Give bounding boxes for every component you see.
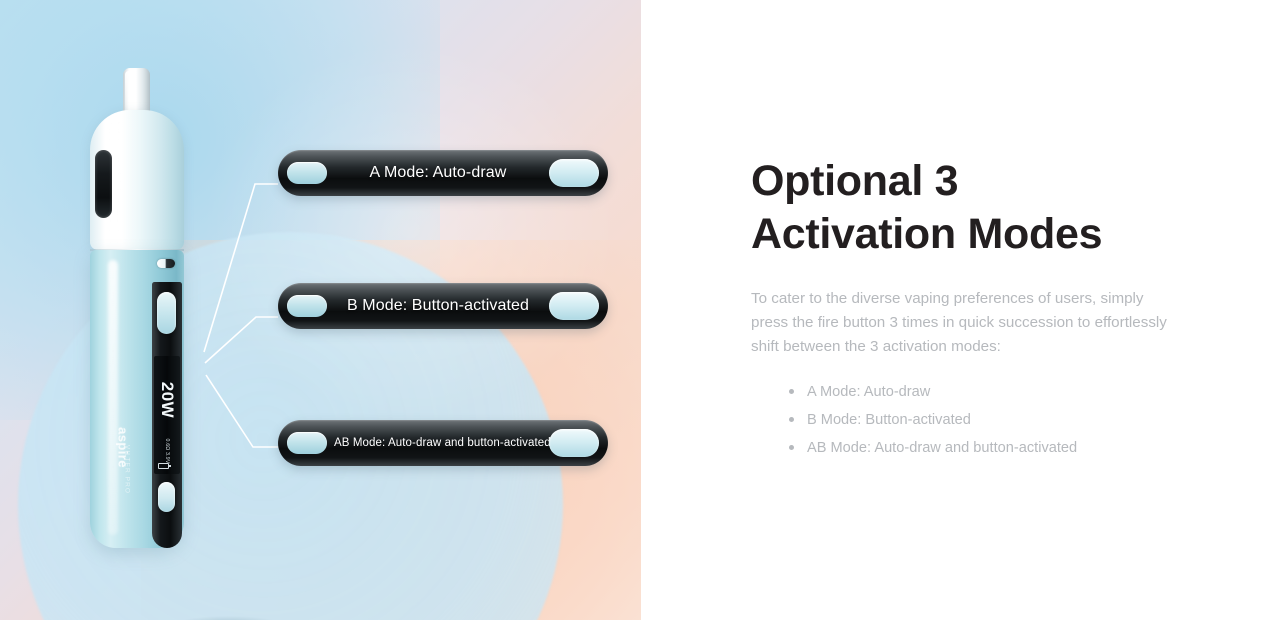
device-indicator-light (157, 259, 175, 268)
pill-right-cap-icon (549, 159, 599, 187)
battery-icon (158, 463, 169, 469)
pill-right-cap-icon (549, 429, 599, 457)
mode-label: B Mode: Button-activated (807, 412, 971, 428)
pill-left-cap-icon (287, 295, 327, 317)
background-white-haze (200, 40, 620, 420)
device-liquid-window (95, 150, 112, 218)
vape-device: 20W 0.6Ω 3.9V aspire VILTER PRO (84, 68, 204, 558)
product-visual-panel: 20W 0.6Ω 3.9V aspire VILTER PRO A Mode: … (0, 0, 641, 620)
screen-wattage-value: 20W (157, 382, 177, 418)
activation-modes-list: A Mode: Auto-draw B Mode: Button-activat… (751, 381, 1190, 465)
device-drop-shadow (176, 616, 280, 620)
device-bottom-button[interactable] (158, 482, 175, 512)
bullet-icon (789, 389, 794, 394)
pill-right-cap-icon (549, 292, 599, 320)
list-item: AB Mode: Auto-draw and button-activated (789, 437, 1190, 460)
screen-sub-readout: 0.6Ω 3.9V (164, 438, 170, 463)
description-paragraph: To cater to the diverse vaping preferenc… (751, 287, 1171, 359)
pill-left-cap-icon (287, 432, 327, 454)
list-item: A Mode: Auto-draw (789, 381, 1190, 404)
headline-line-1: Optional 3 (751, 155, 1190, 208)
bullet-icon (789, 445, 794, 450)
callout-label: AB Mode: Auto-draw and button-activated (334, 437, 542, 449)
device-screen: 20W 0.6Ω 3.9V (154, 356, 180, 474)
bullet-icon (789, 417, 794, 422)
device-fire-button[interactable] (157, 292, 176, 334)
mode-label: A Mode: Auto-draw (807, 384, 930, 400)
callout-label: A Mode: Auto-draw (334, 164, 542, 182)
description-panel: Optional 3 Activation Modes To cater to … (641, 0, 1280, 620)
mode-label: AB Mode: Auto-draw and button-activated (807, 440, 1077, 456)
callout-label: B Mode: Button-activated (334, 297, 542, 315)
list-item: B Mode: Button-activated (789, 409, 1190, 432)
callout-pill-a-mode[interactable]: A Mode: Auto-draw (278, 150, 608, 196)
callout-pill-b-mode[interactable]: B Mode: Button-activated (278, 283, 608, 329)
callout-pill-ab-mode[interactable]: AB Mode: Auto-draw and button-activated (278, 420, 608, 466)
device-model-label: VILTER PRO (124, 435, 131, 505)
pill-left-cap-icon (287, 162, 327, 184)
page-title: Optional 3 Activation Modes (751, 155, 1190, 262)
headline-line-2: Activation Modes (751, 208, 1190, 261)
product-feature-slide: 20W 0.6Ω 3.9V aspire VILTER PRO A Mode: … (0, 0, 1280, 620)
background-blue-wash (0, 0, 440, 420)
